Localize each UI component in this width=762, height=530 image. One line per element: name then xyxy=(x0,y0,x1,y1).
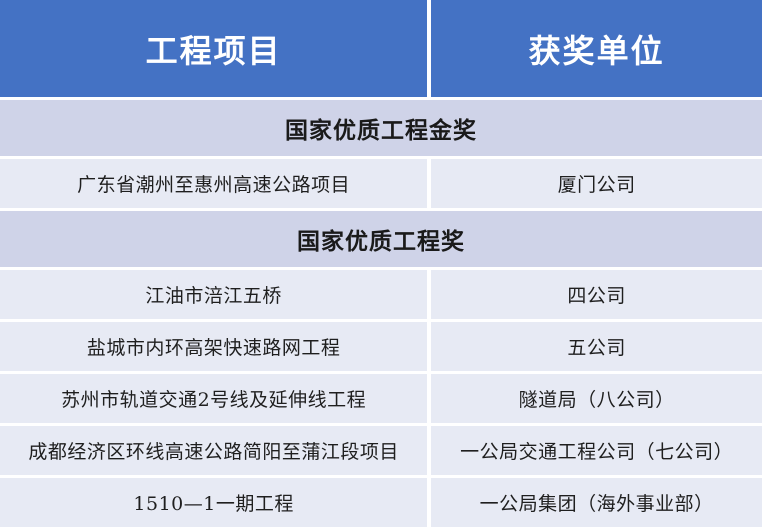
table-row: 广东省潮州至惠州高速公路项目厦门公司 xyxy=(0,159,762,211)
table-row: 盐城市内环高架快速路网工程五公司 xyxy=(0,322,762,374)
cell-project: 成都经济区环线高速公路简阳至蒲江段项目 xyxy=(0,426,431,478)
cell-project: 广东省潮州至惠州高速公路项目 xyxy=(0,159,431,211)
cell-unit: 隧道局（八公司） xyxy=(431,374,762,426)
section-header-row: 国家优质工程金奖 xyxy=(0,100,762,159)
table-header: 工程项目 获奖单位 xyxy=(0,0,762,100)
section-title: 国家优质工程金奖 xyxy=(0,100,762,159)
cell-unit: 四公司 xyxy=(431,270,762,322)
cell-project: 1510—1一期工程 xyxy=(0,478,431,530)
cell-project: 江油市涪江五桥 xyxy=(0,270,431,322)
column-header-unit: 获奖单位 xyxy=(431,0,762,100)
column-header-project: 工程项目 xyxy=(0,0,431,100)
cell-unit: 厦门公司 xyxy=(431,159,762,211)
cell-unit: 五公司 xyxy=(431,322,762,374)
header-row: 工程项目 获奖单位 xyxy=(0,0,762,100)
table-body: 国家优质工程金奖广东省潮州至惠州高速公路项目厦门公司国家优质工程奖江油市涪江五桥… xyxy=(0,100,762,530)
cell-unit: 一公局集团（海外事业部） xyxy=(431,478,762,530)
table-row: 成都经济区环线高速公路简阳至蒲江段项目一公局交通工程公司（七公司） xyxy=(0,426,762,478)
table-row: 江油市涪江五桥四公司 xyxy=(0,270,762,322)
cell-unit: 一公局交通工程公司（七公司） xyxy=(431,426,762,478)
cell-project: 苏州市轨道交通2号线及延伸线工程 xyxy=(0,374,431,426)
table-row: 1510—1一期工程一公局集团（海外事业部） xyxy=(0,478,762,530)
section-header-row: 国家优质工程奖 xyxy=(0,211,762,270)
award-table: 工程项目 获奖单位 国家优质工程金奖广东省潮州至惠州高速公路项目厦门公司国家优质… xyxy=(0,0,762,530)
table-row: 苏州市轨道交通2号线及延伸线工程隧道局（八公司） xyxy=(0,374,762,426)
section-title: 国家优质工程奖 xyxy=(0,211,762,270)
cell-project: 盐城市内环高架快速路网工程 xyxy=(0,322,431,374)
